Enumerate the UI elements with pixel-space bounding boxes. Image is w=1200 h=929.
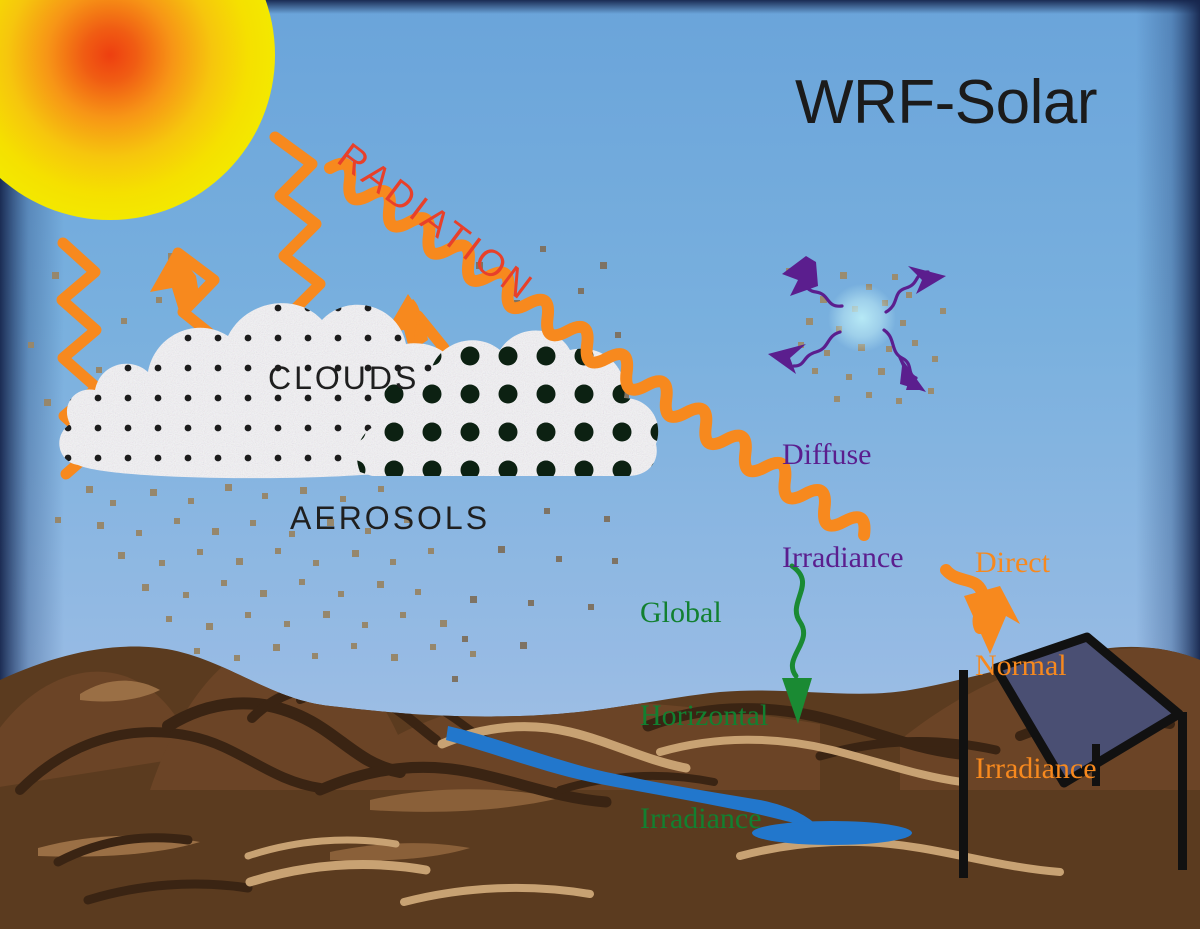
dni-label-line1: Direct [975, 546, 1097, 580]
ghi-label-line3: Irradiance [640, 802, 768, 836]
wrf-solar-figure: WRF-Solar RADIATION CLOUDS AEROSOLS Diff… [0, 0, 1200, 929]
global-horizontal-irradiance-label: Global Horizontal Irradiance [640, 528, 768, 904]
diffuse-label-line1: Diffuse [782, 438, 904, 472]
dni-label-line2: Normal [975, 649, 1097, 683]
panel-post-right [1178, 712, 1187, 870]
clouds-label: CLOUDS [268, 360, 419, 396]
direct-normal-irradiance-label: Direct Normal Irradiance [975, 478, 1097, 854]
ghi-label-line1: Global [640, 596, 768, 630]
panel-post-left [959, 670, 968, 878]
dni-label-line3: Irradiance [975, 752, 1097, 786]
diffuse-label-line2: Irradiance [782, 541, 904, 575]
ghi-label-line2: Horizontal [640, 699, 768, 733]
diffuse-irradiance-label: Diffuse Irradiance [782, 370, 904, 644]
page-title: WRF-Solar [795, 68, 1097, 139]
aerosols-label: AEROSOLS [290, 500, 490, 536]
